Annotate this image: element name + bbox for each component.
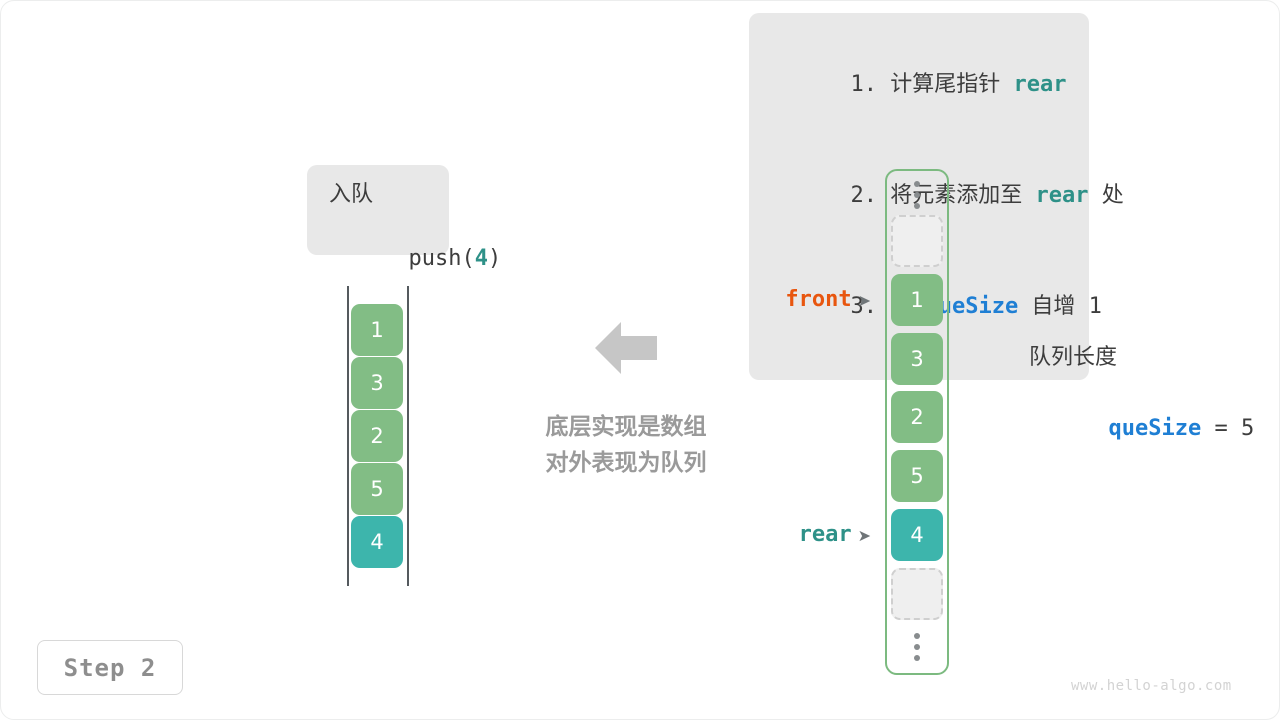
- queue-cell: 1: [351, 304, 403, 356]
- array-cell-value: 4: [910, 523, 923, 547]
- operation-call-arg: 4: [475, 246, 488, 271]
- array-cell-value: 3: [910, 347, 923, 371]
- step-badge: Step 2: [37, 640, 183, 695]
- queue-size-title: 队列长度: [1029, 341, 1254, 375]
- queue-cell-value: 4: [370, 530, 383, 554]
- steps-note-line-2-code: rear: [1035, 183, 1088, 208]
- left-arrow-icon: [595, 319, 657, 377]
- queue-size-info: 队列长度 queSize = 5: [1029, 341, 1254, 483]
- diagram-canvas: 1. 计算尾指针 rear 2. 将元素添加至 rear 处 3. 将 queS…: [0, 0, 1280, 720]
- watermark: www.hello-algo.com: [1071, 678, 1232, 694]
- operation-call-prefix: push(: [408, 246, 474, 271]
- queue-cell: 5: [351, 463, 403, 515]
- array-cell-new: 4: [891, 509, 943, 561]
- middle-caption: 底层实现是数组 对外表现为队列: [501, 409, 751, 481]
- queue-cell-value: 3: [370, 371, 383, 395]
- array-cell-empty: [891, 568, 943, 620]
- array-cell: 5: [891, 450, 943, 502]
- queue-size-expression: queSize = 5: [1029, 375, 1254, 483]
- steps-note-line-2-suffix: 处: [1088, 183, 1123, 208]
- queue-size-var: queSize: [1108, 416, 1201, 441]
- array-cell: 2: [891, 391, 943, 443]
- array-cell-value: 2: [910, 405, 923, 429]
- queue-size-equals: =: [1201, 416, 1241, 441]
- pointer-rear: rear➤: [701, 522, 871, 547]
- pointer-arrow-icon: ➤: [852, 526, 871, 545]
- ellipsis-dots-icon: [901, 631, 933, 663]
- pointer-rear-label: rear: [799, 522, 852, 547]
- queue-size-value: 5: [1241, 416, 1254, 441]
- array-cell: 1: [891, 274, 943, 326]
- middle-caption-line-1: 底层实现是数组: [501, 409, 751, 445]
- step-badge-label: Step 2: [64, 654, 157, 682]
- queue-cell: 3: [351, 357, 403, 409]
- array-cell-value: 5: [910, 464, 923, 488]
- queue-cell-value: 1: [370, 318, 383, 342]
- pointer-arrow-icon: ➤: [852, 291, 871, 310]
- queue-rail-left: [347, 286, 349, 586]
- ellipsis-dots-icon: [901, 179, 933, 211]
- queue-cell-value: 2: [370, 424, 383, 448]
- operation-call-suffix: ): [488, 246, 501, 271]
- pointer-front-label: front: [785, 287, 851, 312]
- steps-note-line-1-prefix: 1. 计算尾指针: [850, 72, 1013, 97]
- middle-caption-line-2: 对外表现为队列: [501, 445, 751, 481]
- queue-cell-value: 5: [370, 477, 383, 501]
- steps-note-line-1: 1. 计算尾指针 rear: [749, 29, 1089, 140]
- array-cell: 3: [891, 333, 943, 385]
- steps-note-line-3-suffix: 自增 1: [1018, 294, 1102, 319]
- array-cell-empty: [891, 215, 943, 267]
- steps-note-line-1-code: rear: [1013, 72, 1066, 97]
- queue-cell: 2: [351, 410, 403, 462]
- queue-cell-new: 4: [351, 516, 403, 568]
- queue-rail-right: [407, 286, 409, 586]
- operation-title: 入队: [329, 179, 449, 211]
- array-cell-value: 1: [910, 288, 923, 312]
- operation-card: 入队 push(4): [307, 165, 449, 255]
- pointer-front: front➤: [701, 287, 871, 312]
